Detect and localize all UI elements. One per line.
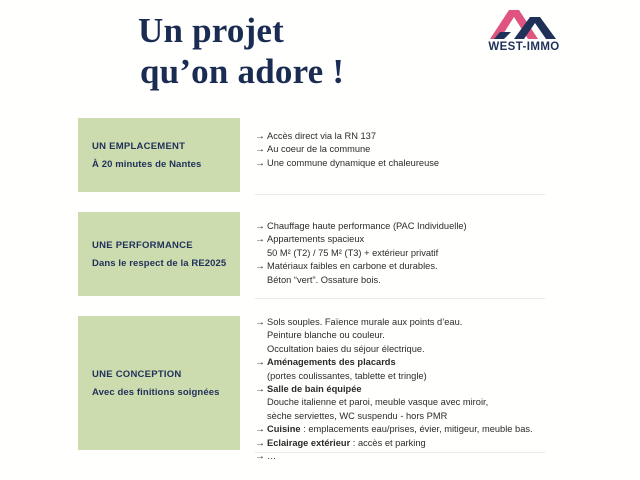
bullet-continuation: sèche serviettes, WC suspendu - hors PMR [267,410,547,423]
bullet-continuation: Occultation baies du séjour électrique. [267,343,547,356]
title-line-2: qu’on adore ! [140,51,344,92]
bullet-item: →Aménagements des placards(portes coulis… [255,356,547,383]
bullet-lead: Matériaux faibles en carbone et durables… [267,261,438,271]
section-title: UNE CONCEPTION [92,367,240,382]
section-performance: UNE PERFORMANCE Dans le respect de la RE… [0,212,640,314]
bullet-text: Eclairage extérieur : accès et parking [267,437,547,450]
section-subtitle: Dans le respect de la RE2025 [92,256,240,271]
bullet-text: Matériaux faibles en carbone et durables… [267,260,547,273]
section-card: UNE CONCEPTION Avec des finitions soigné… [78,316,240,450]
bullet-item: →Salle de bain équipéeDouche italienne e… [255,383,547,423]
bullet-text: Salle de bain équipée [267,383,547,396]
arrow-bullet-icon: → [255,383,265,396]
bullet-rest: : accès et parking [350,438,425,448]
arrow-bullet-icon: → [255,220,265,233]
section-card: UNE PERFORMANCE Dans le respect de la RE… [78,212,240,296]
bullet-lead: Accès direct via la RN 137 [267,131,376,141]
arrow-bullet-icon: → [255,356,265,369]
section-emplacement: UN EMPLACEMENT À 20 minutes de Nantes →A… [0,118,640,210]
bullet-lead: Eclairage extérieur [267,438,350,448]
section-divider [255,298,545,299]
bullet-text: Cuisine : emplacements eau/prises, évier… [267,423,547,436]
bullet-item: →Cuisine : emplacements eau/prises, évie… [255,423,547,436]
bullet-continuation: Béton “vert”. Ossature bois. [267,274,547,287]
section-card: UN EMPLACEMENT À 20 minutes de Nantes [78,118,240,192]
header: Un projet qu’on adore ! WEST-IMMO [0,0,640,108]
bullet-text: Chauffage haute performance (PAC Individ… [267,220,547,233]
bullet-item: →Accès direct via la RN 137 [255,130,547,143]
arrow-bullet-icon: → [255,260,265,273]
section-title: UN EMPLACEMENT [92,139,240,154]
bullet-text: Aménagements des placards [267,356,547,369]
arrow-bullet-icon: → [255,437,265,450]
section-bullet-list: →Sols souples. Faïence murale aux points… [255,316,547,463]
bullet-continuation: 50 M² (T2) / 75 M² (T3) + extérieur priv… [267,247,547,260]
bullet-lead: Salle de bain équipée [267,384,362,394]
bullet-item: →Chauffage haute performance (PAC Indivi… [255,220,547,233]
arrow-bullet-icon: → [255,157,265,170]
bullet-item: →Matériaux faibles en carbone et durable… [255,260,547,287]
bullet-text: Une commune dynamique et chaleureuse [267,157,547,170]
section-divider [255,452,545,453]
bullet-rest: : emplacements eau/prises, évier, mitige… [301,424,533,434]
bullet-continuation: Douche italienne et paroi, meuble vasque… [267,396,547,409]
bullet-lead: Cuisine [267,424,301,434]
section-title: UNE PERFORMANCE [92,238,240,253]
bullet-lead: Au coeur de la commune [267,144,370,154]
bullet-text: Sols souples. Faïence murale aux points … [267,316,547,329]
bullet-item: →Une commune dynamique et chaleureuse [255,157,547,170]
bullet-continuation: (portes coulissantes, tablette et tringl… [267,370,547,383]
arrow-bullet-icon: → [255,423,265,436]
west-immo-logo: WEST-IMMO [478,8,570,60]
bullet-text: Appartements spacieux [267,233,547,246]
bullet-item: →Au coeur de la commune [255,143,547,156]
arrow-bullet-icon: → [255,143,265,156]
bullet-lead: Aménagements des placards [267,357,396,367]
bullet-item: →Sols souples. Faïence murale aux points… [255,316,547,356]
bullet-text: Au coeur de la commune [267,143,547,156]
bullet-item: →Eclairage extérieur : accès et parking [255,437,547,450]
section-conception: UNE CONCEPTION Avec des finitions soigné… [0,316,640,468]
logo-wordmark: WEST-IMMO [478,41,570,53]
bullet-lead: Chauffage haute performance (PAC Individ… [267,221,467,231]
bullet-lead: Appartements spacieux [267,234,364,244]
bullet-continuation: Peinture blanche ou couleur. [267,329,547,342]
bullet-lead: Sols souples. Faïence murale aux points … [267,317,462,327]
title-line-1: Un projet [138,10,344,51]
bullet-text: Accès direct via la RN 137 [267,130,547,143]
section-subtitle: À 20 minutes de Nantes [92,157,240,172]
section-bullet-list: →Chauffage haute performance (PAC Indivi… [255,220,547,287]
bullet-item: →Appartements spacieux50 M² (T2) / 75 M²… [255,233,547,260]
section-bullet-list: →Accès direct via la RN 137→Au coeur de … [255,130,547,170]
arrow-bullet-icon: → [255,130,265,143]
section-subtitle: Avec des finitions soignées [92,385,240,400]
page-title: Un projet qu’on adore ! [138,10,344,92]
bullet-lead: Une commune dynamique et chaleureuse [267,158,439,168]
section-divider [255,194,545,195]
arrow-bullet-icon: → [255,316,265,329]
slide-canvas: Un projet qu’on adore ! WEST-IMMO UN EMP… [0,0,640,480]
arrow-bullet-icon: → [255,233,265,246]
roof-logo-icon [478,8,570,42]
